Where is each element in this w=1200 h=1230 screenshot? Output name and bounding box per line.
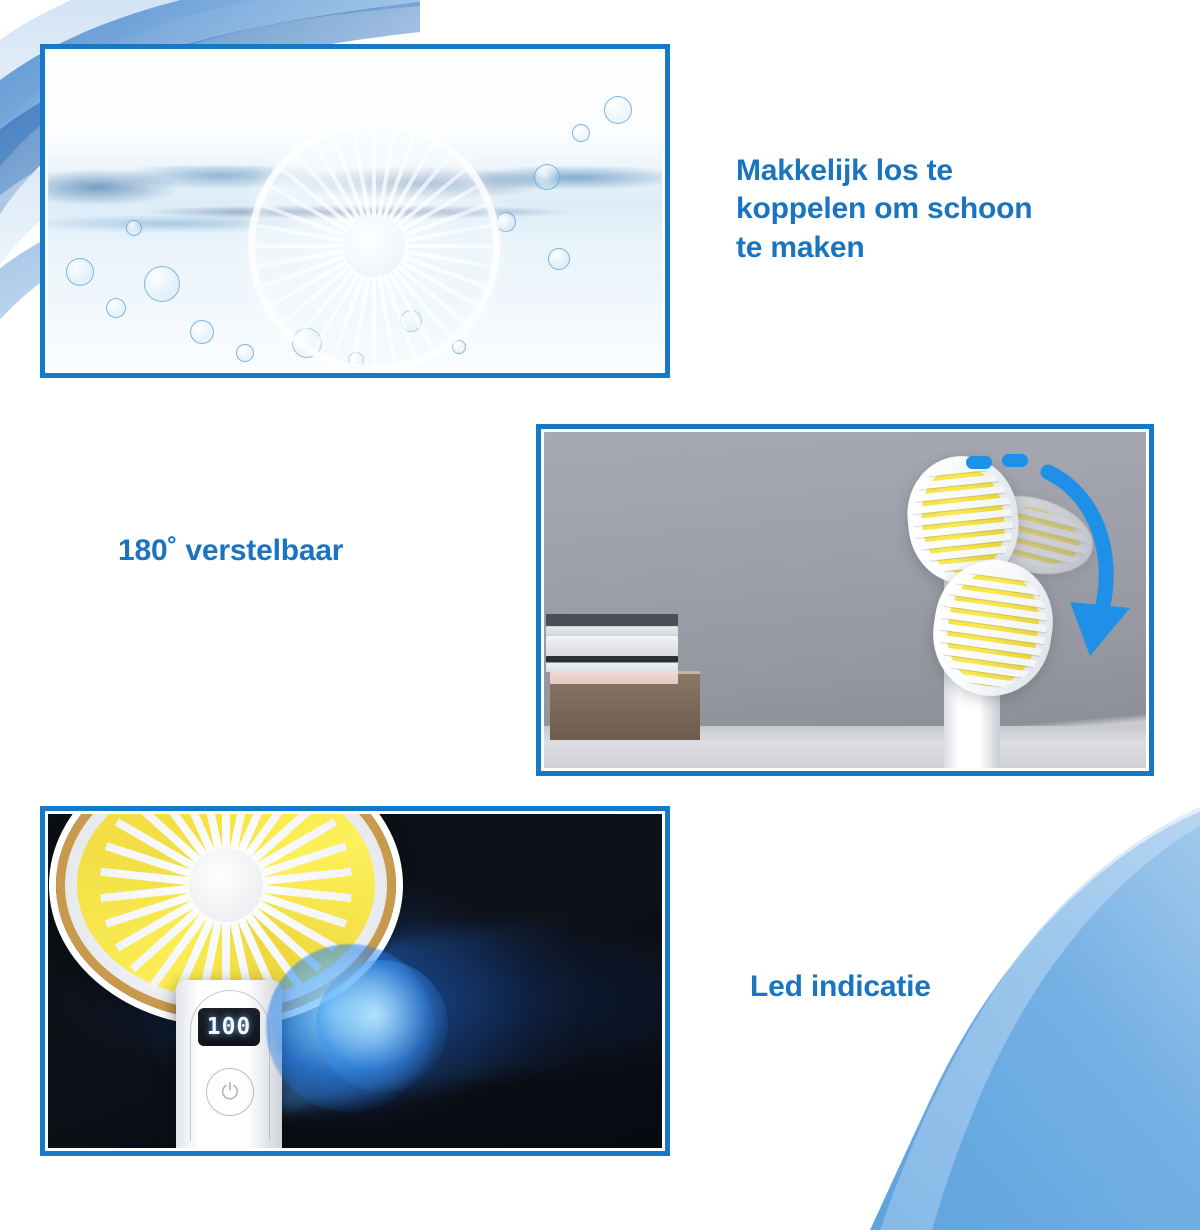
power-button[interactable]: ⏻ — [206, 1068, 254, 1116]
feature-panel-tilt — [536, 424, 1154, 776]
feature-panel-led: 100 ⏻ 100 % — [40, 806, 670, 1156]
led-image: 100 ⏻ 100 % — [48, 814, 662, 1148]
caption-180-adjustable: 180˚ verstelbaar — [118, 532, 498, 570]
feature-panel-water — [40, 44, 670, 378]
bubble — [106, 298, 126, 318]
power-symbol-icon: ⏻ — [221, 1079, 238, 1105]
bubble — [548, 248, 570, 270]
bubble — [126, 220, 142, 236]
fan-hub — [189, 848, 263, 922]
bubble — [534, 164, 560, 190]
caption-led-indicator: Led indicatie — [750, 968, 1090, 1006]
bubble — [144, 266, 180, 302]
battery-led-screen: 100 — [198, 1008, 260, 1046]
bottom-right-swoosh-decoration — [810, 800, 1200, 1230]
infographic-canvas: Makkelijk los te koppelen om schoon te m… — [0, 0, 1200, 1200]
water-image — [48, 52, 662, 370]
battery-screen-value: 100 — [207, 1014, 252, 1040]
light-orb-inner — [316, 960, 448, 1092]
tilt-image — [544, 432, 1146, 768]
book-stack — [546, 614, 686, 676]
bubble — [604, 96, 632, 124]
rotation-arrow-icon — [944, 442, 1144, 692]
bubble — [66, 258, 94, 286]
fan-grille-submerged — [248, 120, 500, 370]
caption-easy-to-clean: Makkelijk los te koppelen om schoon te m… — [736, 152, 1066, 267]
bubble — [572, 124, 590, 142]
bubble — [496, 212, 516, 232]
grille-hub — [343, 215, 405, 277]
bubble — [236, 344, 254, 362]
bubble — [190, 320, 214, 344]
fan-handle-led: 100 ⏻ — [176, 980, 282, 1148]
